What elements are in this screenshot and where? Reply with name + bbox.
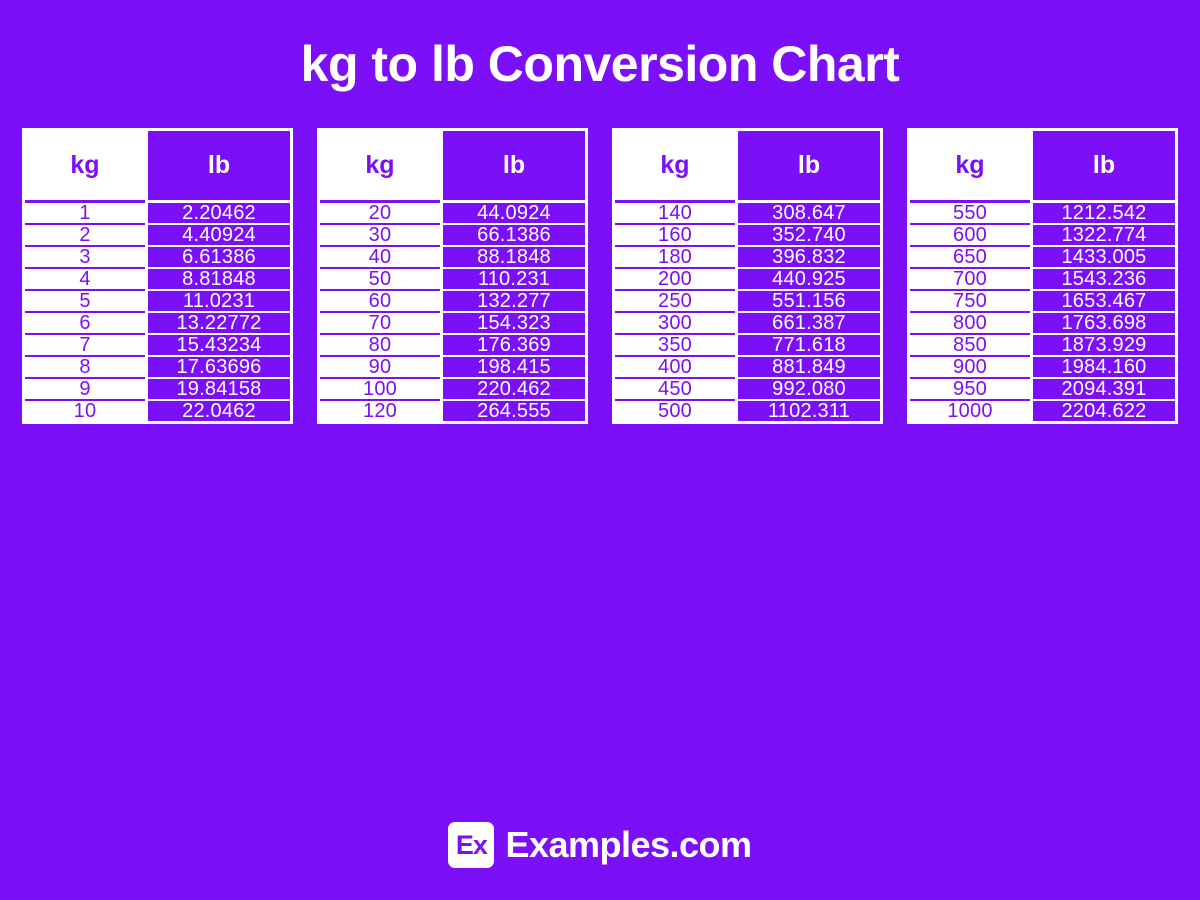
table-row: 350771.618 bbox=[615, 335, 880, 357]
conversion-tables-container: kglb12.2046224.4092436.6138648.81848511.… bbox=[0, 128, 1200, 810]
table-row: 250551.156 bbox=[615, 291, 880, 313]
cell-kg-value: 90 bbox=[320, 357, 440, 379]
cell-kg-value: 5 bbox=[25, 291, 145, 313]
table-row: 2044.0924 bbox=[320, 203, 585, 225]
table-row: 160352.740 bbox=[615, 225, 880, 247]
cell-lb-value: 6.61386 bbox=[145, 247, 290, 269]
table-row: 36.61386 bbox=[25, 247, 290, 269]
cell-lb-value: 1322.774 bbox=[1030, 225, 1175, 247]
table-row: 400881.849 bbox=[615, 357, 880, 379]
cell-kg-value: 500 bbox=[615, 401, 735, 421]
table-row: 50110.231 bbox=[320, 269, 585, 291]
cell-kg-value: 9 bbox=[25, 379, 145, 401]
table-row: 180396.832 bbox=[615, 247, 880, 269]
cell-kg-value: 120 bbox=[320, 401, 440, 421]
cell-kg-value: 700 bbox=[910, 269, 1030, 291]
cell-lb-value: 2204.622 bbox=[1030, 401, 1175, 421]
table-row: 6001322.774 bbox=[910, 225, 1175, 247]
column-header-kg: kg bbox=[910, 131, 1030, 203]
table-row: 12.20462 bbox=[25, 203, 290, 225]
table-row: 715.43234 bbox=[25, 335, 290, 357]
column-header-lb: lb bbox=[1030, 131, 1175, 203]
cell-lb-value: 352.740 bbox=[735, 225, 880, 247]
cell-lb-value: 198.415 bbox=[440, 357, 585, 379]
cell-lb-value: 551.156 bbox=[735, 291, 880, 313]
cell-kg-value: 100 bbox=[320, 379, 440, 401]
cell-kg-value: 800 bbox=[910, 313, 1030, 335]
cell-lb-value: 176.369 bbox=[440, 335, 585, 357]
cell-lb-value: 220.462 bbox=[440, 379, 585, 401]
cell-kg-value: 3 bbox=[25, 247, 145, 269]
cell-lb-value: 264.555 bbox=[440, 401, 585, 421]
cell-lb-value: 66.1386 bbox=[440, 225, 585, 247]
cell-kg-value: 350 bbox=[615, 335, 735, 357]
table-row: 5001102.311 bbox=[615, 401, 880, 421]
conversion-table-4: kglb5501212.5426001322.7746501433.005700… bbox=[907, 128, 1178, 424]
cell-lb-value: 11.0231 bbox=[145, 291, 290, 313]
cell-lb-value: 1763.698 bbox=[1030, 313, 1175, 335]
column-header-kg: kg bbox=[615, 131, 735, 203]
table-header-row: kglb bbox=[910, 131, 1175, 203]
cell-kg-value: 750 bbox=[910, 291, 1030, 313]
column-header-lb: lb bbox=[735, 131, 880, 203]
table-row: 1022.0462 bbox=[25, 401, 290, 421]
cell-kg-value: 20 bbox=[320, 203, 440, 225]
table-row: 200440.925 bbox=[615, 269, 880, 291]
cell-lb-value: 19.84158 bbox=[145, 379, 290, 401]
cell-kg-value: 70 bbox=[320, 313, 440, 335]
cell-lb-value: 1102.311 bbox=[735, 401, 880, 421]
table-row: 300661.387 bbox=[615, 313, 880, 335]
cell-lb-value: 2.20462 bbox=[145, 203, 290, 225]
cell-kg-value: 1 bbox=[25, 203, 145, 225]
cell-lb-value: 8.81848 bbox=[145, 269, 290, 291]
cell-kg-value: 600 bbox=[910, 225, 1030, 247]
cell-kg-value: 180 bbox=[615, 247, 735, 269]
cell-lb-value: 110.231 bbox=[440, 269, 585, 291]
cell-lb-value: 771.618 bbox=[735, 335, 880, 357]
cell-kg-value: 1000 bbox=[910, 401, 1030, 421]
cell-kg-value: 250 bbox=[615, 291, 735, 313]
cell-lb-value: 13.22772 bbox=[145, 313, 290, 335]
table-row: 7001543.236 bbox=[910, 269, 1175, 291]
cell-lb-value: 308.647 bbox=[735, 203, 880, 225]
column-header-lb: lb bbox=[440, 131, 585, 203]
cell-lb-value: 2094.391 bbox=[1030, 379, 1175, 401]
cell-kg-value: 200 bbox=[615, 269, 735, 291]
cell-lb-value: 4.40924 bbox=[145, 225, 290, 247]
table-row: 919.84158 bbox=[25, 379, 290, 401]
cell-kg-value: 400 bbox=[615, 357, 735, 379]
table-row: 80176.369 bbox=[320, 335, 585, 357]
table-row: 10002204.622 bbox=[910, 401, 1175, 421]
cell-kg-value: 10 bbox=[25, 401, 145, 421]
table-row: 48.81848 bbox=[25, 269, 290, 291]
cell-lb-value: 22.0462 bbox=[145, 401, 290, 421]
cell-kg-value: 140 bbox=[615, 203, 735, 225]
cell-kg-value: 850 bbox=[910, 335, 1030, 357]
footer-branding: Ex Examples.com bbox=[0, 810, 1200, 900]
cell-kg-value: 450 bbox=[615, 379, 735, 401]
brand-name: Examples.com bbox=[505, 827, 751, 863]
cell-lb-value: 1212.542 bbox=[1030, 203, 1175, 225]
cell-kg-value: 900 bbox=[910, 357, 1030, 379]
cell-lb-value: 44.0924 bbox=[440, 203, 585, 225]
cell-kg-value: 60 bbox=[320, 291, 440, 313]
page-title: kg to lb Conversion Chart bbox=[301, 39, 900, 89]
table-row: 24.40924 bbox=[25, 225, 290, 247]
table-row: 60132.277 bbox=[320, 291, 585, 313]
cell-kg-value: 40 bbox=[320, 247, 440, 269]
cell-kg-value: 550 bbox=[910, 203, 1030, 225]
table-row: 100220.462 bbox=[320, 379, 585, 401]
table-row: 5501212.542 bbox=[910, 203, 1175, 225]
table-header-row: kglb bbox=[320, 131, 585, 203]
cell-lb-value: 1653.467 bbox=[1030, 291, 1175, 313]
cell-lb-value: 1873.929 bbox=[1030, 335, 1175, 357]
cell-kg-value: 30 bbox=[320, 225, 440, 247]
cell-kg-value: 300 bbox=[615, 313, 735, 335]
title-bar: kg to lb Conversion Chart bbox=[0, 0, 1200, 128]
table-row: 9001984.160 bbox=[910, 357, 1175, 379]
table-row: 6501433.005 bbox=[910, 247, 1175, 269]
cell-lb-value: 1984.160 bbox=[1030, 357, 1175, 379]
conversion-table-3: kglb140308.647160352.740180396.832200440… bbox=[612, 128, 883, 424]
cell-lb-value: 15.43234 bbox=[145, 335, 290, 357]
table-row: 511.0231 bbox=[25, 291, 290, 313]
conversion-table-2: kglb2044.09243066.13864088.184850110.231… bbox=[317, 128, 588, 424]
cell-lb-value: 661.387 bbox=[735, 313, 880, 335]
cell-kg-value: 950 bbox=[910, 379, 1030, 401]
cell-lb-value: 132.277 bbox=[440, 291, 585, 313]
cell-lb-value: 1543.236 bbox=[1030, 269, 1175, 291]
table-row: 140308.647 bbox=[615, 203, 880, 225]
table-row: 8001763.698 bbox=[910, 313, 1175, 335]
cell-lb-value: 88.1848 bbox=[440, 247, 585, 269]
cell-kg-value: 6 bbox=[25, 313, 145, 335]
examples-logo-icon: Ex bbox=[448, 822, 494, 868]
table-header-row: kglb bbox=[25, 131, 290, 203]
table-row: 7501653.467 bbox=[910, 291, 1175, 313]
column-header-kg: kg bbox=[320, 131, 440, 203]
table-row: 450992.080 bbox=[615, 379, 880, 401]
cell-kg-value: 7 bbox=[25, 335, 145, 357]
cell-kg-value: 80 bbox=[320, 335, 440, 357]
column-header-kg: kg bbox=[25, 131, 145, 203]
cell-lb-value: 992.080 bbox=[735, 379, 880, 401]
cell-lb-value: 154.323 bbox=[440, 313, 585, 335]
cell-kg-value: 160 bbox=[615, 225, 735, 247]
cell-kg-value: 4 bbox=[25, 269, 145, 291]
table-row: 120264.555 bbox=[320, 401, 585, 421]
conversion-chart-page: kg to lb Conversion Chart kglb12.2046224… bbox=[0, 0, 1200, 900]
table-header-row: kglb bbox=[615, 131, 880, 203]
table-row: 817.63696 bbox=[25, 357, 290, 379]
cell-kg-value: 2 bbox=[25, 225, 145, 247]
cell-kg-value: 50 bbox=[320, 269, 440, 291]
table-row: 70154.323 bbox=[320, 313, 585, 335]
conversion-table-1: kglb12.2046224.4092436.6138648.81848511.… bbox=[22, 128, 293, 424]
column-header-lb: lb bbox=[145, 131, 290, 203]
cell-lb-value: 17.63696 bbox=[145, 357, 290, 379]
table-row: 3066.1386 bbox=[320, 225, 585, 247]
table-row: 613.22772 bbox=[25, 313, 290, 335]
cell-lb-value: 440.925 bbox=[735, 269, 880, 291]
table-row: 8501873.929 bbox=[910, 335, 1175, 357]
table-row: 90198.415 bbox=[320, 357, 585, 379]
cell-lb-value: 881.849 bbox=[735, 357, 880, 379]
table-row: 4088.1848 bbox=[320, 247, 585, 269]
cell-lb-value: 1433.005 bbox=[1030, 247, 1175, 269]
cell-kg-value: 650 bbox=[910, 247, 1030, 269]
cell-kg-value: 8 bbox=[25, 357, 145, 379]
table-row: 9502094.391 bbox=[910, 379, 1175, 401]
cell-lb-value: 396.832 bbox=[735, 247, 880, 269]
